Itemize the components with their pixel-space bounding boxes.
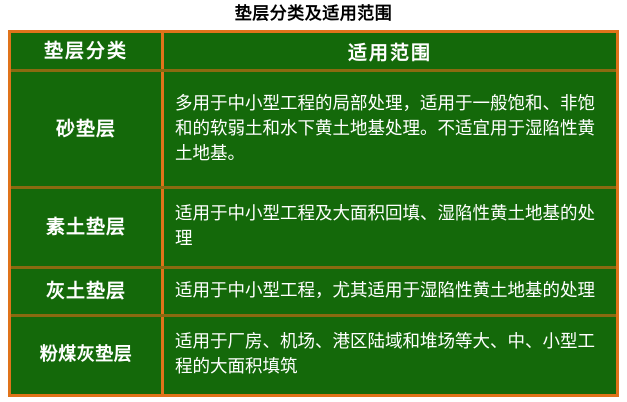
cell-scope-fly-ash: 适用于厂房、机场、港区陆域和堆场等大、中、小型工程的大面积填筑 bbox=[163, 315, 617, 394]
page-title: 垫层分类及适用范围 bbox=[0, 2, 627, 26]
header-cell-scope: 适用范围 bbox=[163, 33, 617, 71]
header-cell-category: 垫层分类 bbox=[11, 33, 163, 71]
label-category-sand: 砂垫层 bbox=[11, 116, 161, 142]
table-row: 灰土垫层 适用于中小型工程，尤其适用于湿陷性黄土地基的处理 bbox=[11, 268, 616, 316]
table-row: 粉煤灰垫层 适用于厂房、机场、港区陆域和堆场等大、中、小型工程的大面积填筑 bbox=[11, 315, 616, 394]
table-row: 砂垫层 多用于中小型工程的局部处理，适用于一般饱和、非饱和的软弱土和水下黄土地基… bbox=[11, 71, 616, 187]
label-category-lime-soil: 灰土垫层 bbox=[11, 278, 161, 304]
label-category-plain-soil: 素土垫层 bbox=[11, 214, 161, 240]
table-header-row: 垫层分类 适用范围 bbox=[11, 33, 616, 71]
document-page: 垫层分类及适用范围 垫层分类 适用范围 砂垫层 多用于中小型工 bbox=[0, 0, 627, 402]
text-scope-plain-soil: 适用于中小型工程及大面积回填、湿陷性黄土地基的处理 bbox=[164, 198, 616, 256]
cell-category-fly-ash: 粉煤灰垫层 bbox=[11, 315, 163, 394]
cell-scope-lime-soil: 适用于中小型工程，尤其适用于湿陷性黄土地基的处理 bbox=[163, 268, 617, 316]
cell-category-sand: 砂垫层 bbox=[11, 71, 163, 187]
header-label-scope: 适用范围 bbox=[164, 38, 616, 65]
table: 垫层分类 适用范围 砂垫层 多用于中小型工程的局部处理，适用于一般饱和、非饱和的… bbox=[11, 33, 616, 394]
text-scope-sand: 多用于中小型工程的局部处理，适用于一般饱和、非饱和的软弱土和水下黄土地基处理。不… bbox=[164, 86, 616, 171]
cushion-classification-table: 垫层分类 适用范围 砂垫层 多用于中小型工程的局部处理，适用于一般饱和、非饱和的… bbox=[8, 30, 619, 397]
cell-scope-sand: 多用于中小型工程的局部处理，适用于一般饱和、非饱和的软弱土和水下黄土地基处理。不… bbox=[163, 71, 617, 187]
label-category-fly-ash: 粉煤灰垫层 bbox=[11, 342, 161, 368]
header-label-category: 垫层分类 bbox=[11, 38, 161, 64]
text-scope-lime-soil: 适用于中小型工程，尤其适用于湿陷性黄土地基的处理 bbox=[164, 275, 616, 308]
table-row: 素土垫层 适用于中小型工程及大面积回填、湿陷性黄土地基的处理 bbox=[11, 187, 616, 268]
text-scope-fly-ash: 适用于厂房、机场、港区陆域和堆场等大、中、小型工程的大面积填筑 bbox=[164, 326, 616, 384]
cell-scope-plain-soil: 适用于中小型工程及大面积回填、湿陷性黄土地基的处理 bbox=[163, 187, 617, 268]
cell-category-plain-soil: 素土垫层 bbox=[11, 187, 163, 268]
cell-category-lime-soil: 灰土垫层 bbox=[11, 268, 163, 316]
